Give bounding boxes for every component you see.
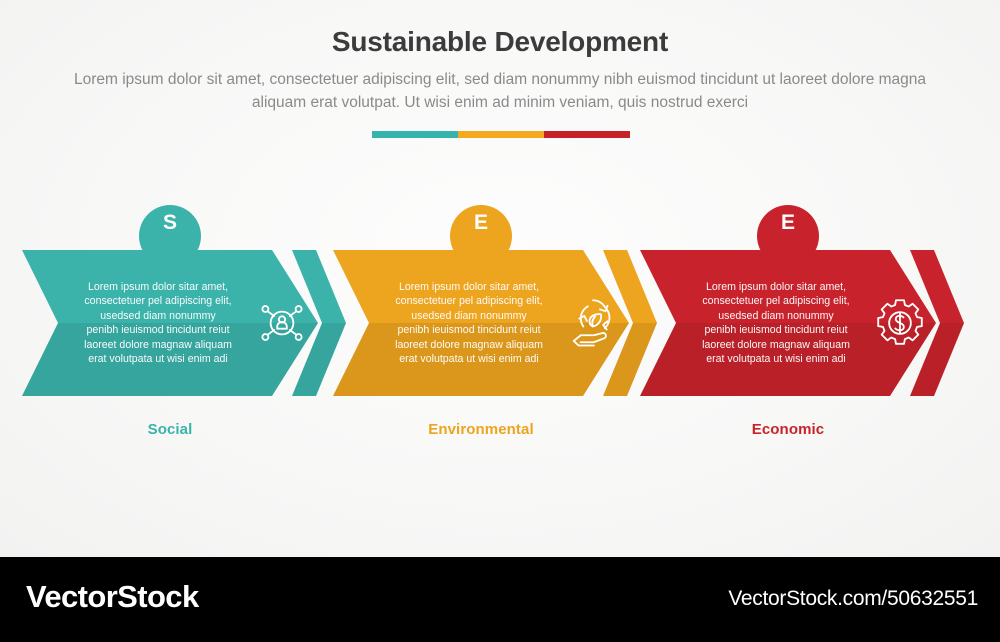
divider-segment-3 xyxy=(544,131,630,138)
slide-canvas: Sustainable Development Lorem ipsum dolo… xyxy=(0,0,1000,557)
divider-segment-1 xyxy=(372,131,458,138)
divider-segment-2 xyxy=(458,131,544,138)
badge-letter: E xyxy=(450,212,512,234)
color-divider-bar xyxy=(372,131,630,138)
segment-label: Economic xyxy=(640,421,936,438)
vectorstock-url: VectorStock.com/50632551 xyxy=(728,587,978,611)
badge-letter: E xyxy=(757,212,819,234)
infographic-screenshot: Sustainable Development Lorem ipsum dolo… xyxy=(0,0,1000,642)
segment-label: Environmental xyxy=(333,421,629,438)
arrow-segment-environmental[interactable]: E Lorem ipsum dolor sitar amet, consecte… xyxy=(333,205,629,450)
vectorstock-logo: VectorStock xyxy=(26,579,199,615)
segment-label: Social xyxy=(22,421,318,438)
arrow-segment-social[interactable]: S Lorem ipsum dolor sitar amet, consecte… xyxy=(22,205,318,450)
arrow-content: Lorem ipsum dolor sitar amet, consectetu… xyxy=(22,250,318,396)
badge-letter: S xyxy=(139,212,201,234)
social-network-person-icon xyxy=(254,295,310,351)
gear-dollar-icon xyxy=(872,295,928,351)
page-title: Sustainable Development xyxy=(0,22,1000,62)
arrow-content: Lorem ipsum dolor sitar amet, consectetu… xyxy=(333,250,629,396)
page-subtitle: Lorem ipsum dolor sit amet, consectetuer… xyxy=(70,68,930,114)
segment-description: Lorem ipsum dolor sitar amet, consectetu… xyxy=(702,280,850,367)
segment-description: Lorem ipsum dolor sitar amet, consectetu… xyxy=(84,280,232,367)
header: Sustainable Development Lorem ipsum dolo… xyxy=(0,22,1000,114)
hand-leaf-recycle-icon xyxy=(565,295,621,351)
arrow-process-row: S Lorem ipsum dolor sitar amet, consecte… xyxy=(0,205,1000,450)
arrow-content: Lorem ipsum dolor sitar amet, consectetu… xyxy=(640,250,936,396)
arrow-segment-economic[interactable]: E Lorem ipsum dolor sitar amet, consecte… xyxy=(640,205,936,450)
watermark-footer: VectorStock VectorStock.com/50632551 xyxy=(0,557,1000,642)
segment-description: Lorem ipsum dolor sitar amet, consectetu… xyxy=(395,280,543,367)
